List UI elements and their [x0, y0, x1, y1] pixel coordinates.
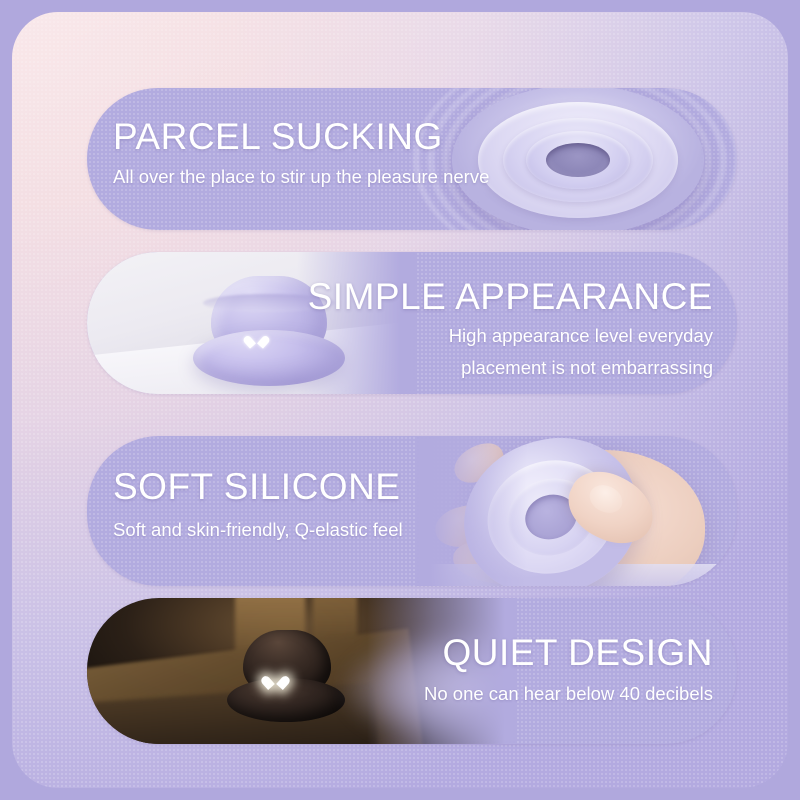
- panel-3-title: SOFT SILICONE: [113, 468, 403, 506]
- feature-panel-soft-silicone[interactable]: SOFT SILICONE Soft and skin-friendly, Q-…: [87, 436, 737, 586]
- feature-panel-parcel-sucking[interactable]: PARCEL SUCKING All over the place to sti…: [87, 88, 737, 230]
- panel-1-title: PARCEL SUCKING: [113, 118, 489, 156]
- panel-3-text-block: SOFT SILICONE Soft and skin-friendly, Q-…: [113, 468, 403, 542]
- panel-2-text-block: SIMPLE APPEARANCE High appearance level …: [308, 278, 713, 380]
- panel-1-subtitle: All over the place to stir up the pleasu…: [113, 165, 489, 189]
- panel-3-subtitle: Soft and skin-friendly, Q-elastic feel: [113, 518, 403, 542]
- panel-4-subtitle: No one can hear below 40 decibels: [424, 682, 713, 706]
- feature-panel-quiet-design[interactable]: QUIET DESIGN No one can hear below 40 de…: [87, 598, 737, 744]
- panel-1-text-block: PARCEL SUCKING All over the place to sti…: [113, 118, 489, 189]
- panel-4-text-block: QUIET DESIGN No one can hear below 40 de…: [424, 634, 713, 706]
- panel-2-subtitle-line-2: placement is not embarrassing: [308, 356, 713, 380]
- hand-squeezing-device-photo: [417, 436, 737, 586]
- image-fade-left: [417, 436, 527, 586]
- poster-background: PARCEL SUCKING All over the place to sti…: [12, 12, 788, 788]
- panel-4-title: QUIET DESIGN: [424, 634, 713, 672]
- heart-icon: [249, 334, 264, 348]
- suction-hole: [546, 143, 610, 177]
- feature-panel-simple-appearance[interactable]: SIMPLE APPEARANCE High appearance level …: [87, 252, 737, 394]
- panel-2-subtitle-line-1: High appearance level everyday: [308, 324, 713, 348]
- panel-2-title: SIMPLE APPEARANCE: [308, 278, 713, 316]
- poster-frame: PARCEL SUCKING All over the place to sti…: [0, 0, 800, 800]
